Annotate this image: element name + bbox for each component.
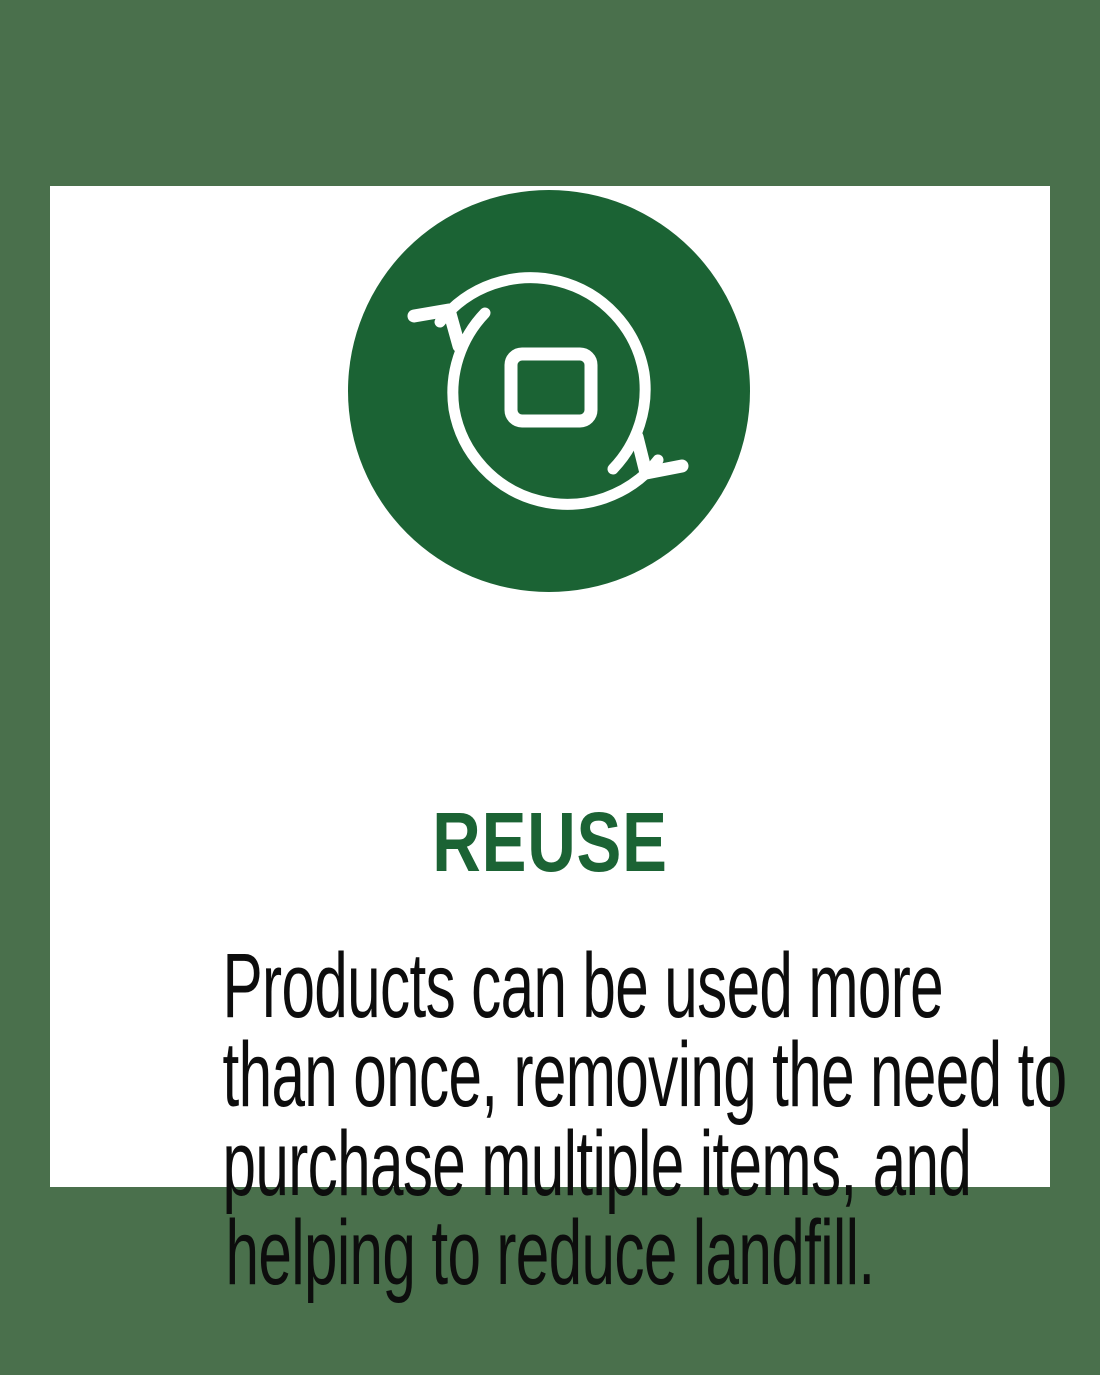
body-line: than once, removing the need to bbox=[223, 1031, 878, 1120]
page-title: REUSE bbox=[150, 800, 950, 884]
cycle-arc-bottom bbox=[453, 313, 658, 504]
reuse-info-card: REUSE Products can be used more than onc… bbox=[50, 186, 1050, 1187]
body-line: purchase multiple items, and bbox=[223, 1120, 878, 1209]
page-root: { "page": { "background_color": "#4a704c… bbox=[0, 0, 1100, 1375]
reuse-icon-badge bbox=[348, 190, 750, 592]
body-copy: Products can be used more than once, rem… bbox=[50, 942, 1050, 1298]
body-line: Products can be used more bbox=[223, 942, 878, 1031]
cycle-arc-top bbox=[440, 278, 645, 469]
product-square-icon bbox=[511, 354, 591, 421]
reuse-cycle-icon bbox=[348, 190, 750, 592]
body-line: helping to reduce landfill. bbox=[223, 1209, 878, 1298]
cycle-arrowhead-upper-left bbox=[414, 310, 459, 346]
